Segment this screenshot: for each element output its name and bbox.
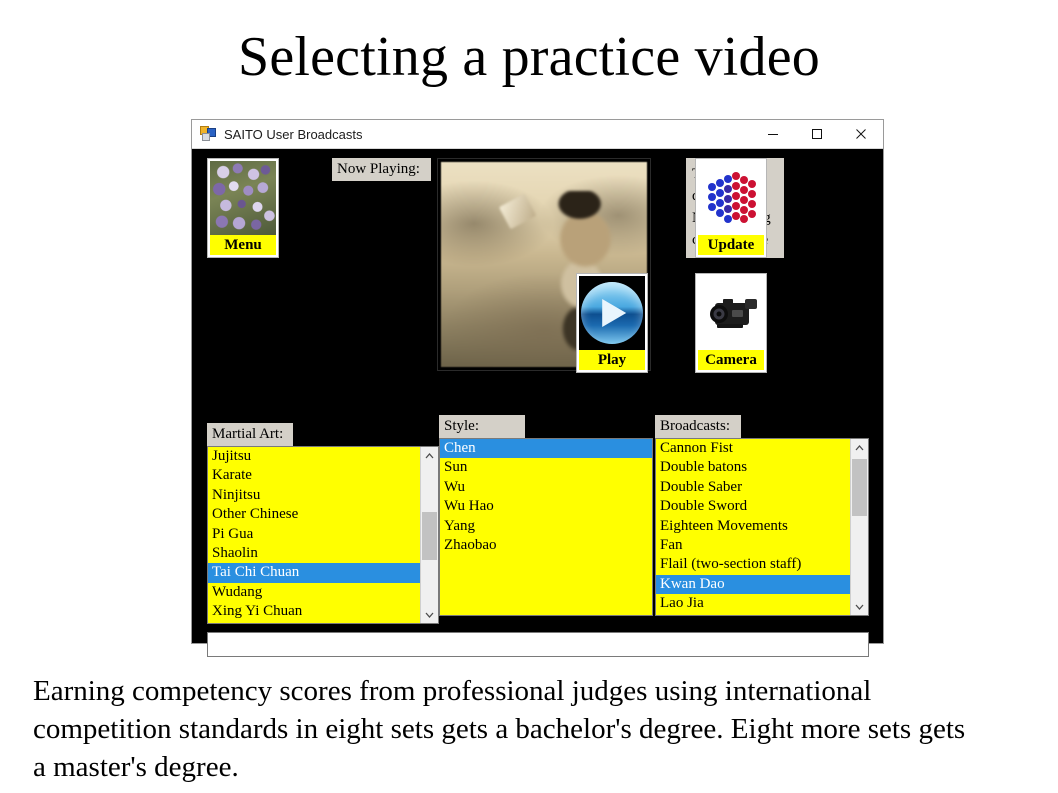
- play-button[interactable]: Play: [576, 273, 648, 373]
- list-item[interactable]: Double Sword: [656, 497, 850, 516]
- play-orb-icon: [579, 276, 645, 350]
- window-title-text: SAITO User Broadcasts: [224, 127, 751, 142]
- martial-art-label: Martial Art:: [207, 423, 293, 446]
- scroll-down-icon[interactable]: [421, 606, 438, 623]
- style-items: ChenSunWuWu HaoYangZhaobao: [440, 439, 652, 615]
- window-client-area: Menu Now Playing: To set as the default …: [194, 150, 881, 641]
- broadcasts-listbox[interactable]: Cannon FistDouble batonsDouble SaberDoub…: [655, 438, 869, 616]
- list-item[interactable]: Eighteen Movements: [656, 517, 850, 536]
- now-playing-label: Now Playing:: [332, 158, 431, 181]
- scroll-up-icon[interactable]: [421, 447, 438, 464]
- scrollbar-thumb[interactable]: [852, 459, 867, 516]
- list-item[interactable]: Ninjitsu: [208, 486, 420, 505]
- minimize-icon[interactable]: [751, 120, 795, 148]
- scrollbar-thumb[interactable]: [422, 512, 437, 560]
- list-item[interactable]: Zhaobao: [440, 536, 652, 555]
- list-item[interactable]: Wudang: [208, 583, 420, 602]
- menu-button-label: Menu: [210, 235, 276, 255]
- scroll-up-icon[interactable]: [851, 439, 868, 456]
- broadcasts-label: Broadcasts:: [655, 415, 741, 438]
- list-item[interactable]: Kwan Dao: [656, 575, 850, 594]
- list-item[interactable]: Lao Jia: [656, 594, 850, 613]
- update-button[interactable]: Update: [695, 158, 767, 258]
- style-label: Style:: [439, 415, 525, 438]
- broadcasts-scrollbar[interactable]: [850, 439, 868, 615]
- martial-art-items: JujitsuKarateNinjitsuOther ChinesePi Gua…: [208, 447, 420, 623]
- list-item[interactable]: Yang: [440, 517, 652, 536]
- martial-art-scrollbar[interactable]: [420, 447, 438, 623]
- slide-body-text: Earning competency scores from professio…: [33, 672, 973, 786]
- list-item[interactable]: Wu Hao: [440, 497, 652, 516]
- window-title-bar: SAITO User Broadcasts: [192, 120, 883, 149]
- list-item[interactable]: Chen: [440, 439, 652, 458]
- list-item[interactable]: Fan: [656, 536, 850, 555]
- list-item[interactable]: Double batons: [656, 458, 850, 477]
- page-title: Selecting a practice video: [0, 22, 1058, 92]
- scroll-down-icon[interactable]: [851, 598, 868, 615]
- status-input[interactable]: [207, 632, 869, 657]
- list-item[interactable]: Pi Gua: [208, 525, 420, 544]
- app-window-icon: [200, 126, 216, 142]
- list-item[interactable]: Cannon Fist: [656, 439, 850, 458]
- menu-button[interactable]: Menu: [207, 158, 279, 258]
- broadcasts-items: Cannon FistDouble batonsDouble SaberDoub…: [656, 439, 850, 615]
- update-button-label: Update: [698, 235, 764, 255]
- sphere-cube-icon: [698, 161, 764, 235]
- style-listbox[interactable]: ChenSunWuWu HaoYangZhaobao: [439, 438, 653, 616]
- list-item[interactable]: Double Saber: [656, 478, 850, 497]
- camera-button-label: Camera: [698, 350, 764, 370]
- list-item[interactable]: Other Chinese: [208, 505, 420, 524]
- list-item[interactable]: Sun: [440, 458, 652, 477]
- wisteria-flowers-icon: [210, 161, 276, 235]
- play-button-label: Play: [579, 350, 645, 370]
- close-icon[interactable]: [839, 120, 883, 148]
- list-item[interactable]: Flail (two-section staff): [656, 555, 850, 574]
- list-item[interactable]: Xing Yi Chuan: [208, 602, 420, 621]
- application-window: SAITO User Broadcasts Menu Now Playing:: [191, 119, 884, 644]
- list-item[interactable]: Shaolin: [208, 544, 420, 563]
- camera-button[interactable]: Camera: [695, 273, 767, 373]
- list-item[interactable]: Karate: [208, 466, 420, 485]
- camcorder-icon: [698, 276, 764, 350]
- list-item[interactable]: Jujitsu: [208, 447, 420, 466]
- list-item[interactable]: Wu: [440, 478, 652, 497]
- list-item[interactable]: Tai Chi Chuan: [208, 563, 420, 582]
- martial-art-listbox[interactable]: JujitsuKarateNinjitsuOther ChinesePi Gua…: [207, 446, 439, 624]
- maximize-icon[interactable]: [795, 120, 839, 148]
